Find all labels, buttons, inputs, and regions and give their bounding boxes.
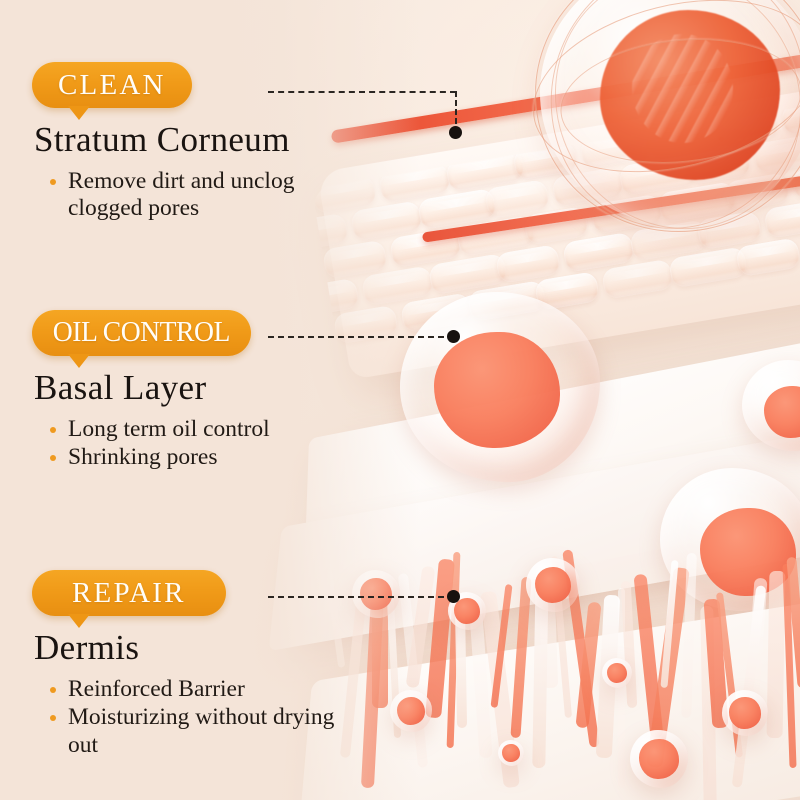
corneocyte-cell <box>445 150 525 192</box>
corneocyte-cell <box>378 162 451 203</box>
corneocyte-cell <box>724 172 790 212</box>
sphere-coral-core <box>600 10 780 180</box>
collagen-fiber <box>681 553 697 718</box>
layer-title-basal-layer: Basal Layer <box>34 370 270 407</box>
dermis-sphere <box>722 690 768 736</box>
dermis-sphere <box>630 730 688 788</box>
collagen-fiber <box>618 588 625 788</box>
dermis-sphere-core <box>535 567 572 604</box>
collagen-fiber <box>633 574 663 738</box>
corneocyte-cell <box>668 246 748 288</box>
corneocyte-cell <box>752 133 800 174</box>
collagen-fiber <box>386 580 401 738</box>
skin-cell-sphere <box>400 292 600 482</box>
corneocyte-cell <box>685 145 751 185</box>
collagen-fiber <box>551 556 572 718</box>
badge-tail-icon <box>68 354 90 368</box>
section-clean: CLEAN Stratum Corneum Remove dirt and un… <box>32 62 368 224</box>
badge-oil-control[interactable]: OIL CONTROL <box>32 310 251 356</box>
collagen-fiber <box>732 585 767 788</box>
skin-cell-sphere <box>660 468 800 611</box>
corneocyte-cell <box>629 219 709 261</box>
wireframe-ring <box>554 28 800 175</box>
wireframe-sphere <box>540 0 800 225</box>
badge-oil-control-label: OIL CONTROL <box>53 319 230 348</box>
collagen-fiber <box>562 549 600 747</box>
collagen-fiber <box>406 566 436 689</box>
corneocyte-cell <box>361 265 434 306</box>
badge-repair-label: REPAIR <box>72 579 186 608</box>
badge-clean[interactable]: CLEAN <box>32 62 192 108</box>
collagen-fiber <box>398 573 428 768</box>
corneocyte-cell <box>322 240 388 280</box>
collagen-fiber <box>372 587 388 708</box>
skin-cell-core <box>434 332 560 448</box>
badge-tail-icon <box>68 106 90 120</box>
skin-cell-core <box>700 508 796 596</box>
corneocyte-cell <box>312 278 360 318</box>
collagen-fiber <box>455 605 467 728</box>
collagen-fiber <box>532 570 548 768</box>
collagen-fiber <box>621 581 638 708</box>
skin-surface-line-secondary <box>422 163 800 242</box>
skin-cell-core <box>764 386 800 438</box>
collagen-fiber <box>700 606 717 800</box>
corneocyte-cell <box>657 181 737 223</box>
dermis-sphere <box>602 658 632 688</box>
collagen-fiber <box>745 578 767 709</box>
corneocyte-cell <box>696 210 762 250</box>
dermis-sphere-core <box>607 663 627 683</box>
corneocyte-cell <box>428 253 508 295</box>
corneocyte-cell <box>534 271 600 311</box>
corneocyte-cell <box>646 116 726 158</box>
layer-title-dermis: Dermis <box>34 630 368 667</box>
badge-clean-label: CLEAN <box>58 71 166 100</box>
bullet-list-oil-control: Long term oil control Shrinking pores <box>32 416 270 472</box>
collagen-fiber <box>782 564 796 768</box>
collagen-fiber <box>646 567 690 768</box>
collagen-fiber <box>596 595 621 759</box>
collagen-fiber <box>480 591 520 788</box>
corneocyte-cell <box>484 179 550 219</box>
corneocyte-cell <box>579 128 652 169</box>
badge-repair[interactable]: REPAIR <box>32 570 226 616</box>
collagen-fiber <box>786 557 800 688</box>
dermis-sphere <box>390 690 432 732</box>
wireframe-ring <box>511 0 800 267</box>
corneocyte-cell <box>780 95 800 136</box>
dermis-sphere-core <box>639 739 678 778</box>
dermis-sphere-core <box>729 697 760 728</box>
bullet-list-clean: Remove dirt and unclog clogged pores <box>32 168 368 223</box>
infographic-poster: CLEAN Stratum Corneum Remove dirt and un… <box>0 0 800 800</box>
corneocyte-cell <box>467 280 547 322</box>
collagen-fiber <box>468 598 492 759</box>
section-oil-control: OIL CONTROL Basal Layer Long term oil co… <box>32 310 270 473</box>
list-item: Remove dirt and unclog clogged pores <box>48 168 368 223</box>
stratum-corneum-slab <box>317 70 800 379</box>
bullet-list-repair: Reinforced Barrier Moisturizing without … <box>32 676 368 760</box>
collagen-fiber <box>510 577 531 738</box>
collagen-fiber <box>660 560 678 688</box>
corneocyte-cell <box>333 305 399 345</box>
collagen-fiber <box>575 602 601 729</box>
collagen-fiber <box>425 559 455 719</box>
list-item: Long term oil control <box>48 416 270 444</box>
basal-layer-plane <box>303 317 800 619</box>
layer-title-stratum-corneum: Stratum Corneum <box>34 122 368 159</box>
wireframe-ring <box>535 0 800 232</box>
wireframe-ring <box>510 0 800 273</box>
dermis-sphere <box>498 740 524 766</box>
section-repair: REPAIR Dermis Reinforced Barrier Moistur… <box>32 570 368 761</box>
dermis-sphere <box>526 558 580 612</box>
corneocyte-cell <box>456 215 536 257</box>
dermis-collagen-fibers <box>330 540 800 800</box>
corneocyte-cell <box>791 160 800 201</box>
corneocyte-cell <box>417 188 497 230</box>
corneocyte-cell <box>763 198 800 239</box>
corneocyte-cell <box>590 194 663 235</box>
collagen-fiber <box>767 571 786 738</box>
dermis-sphere-core <box>454 598 480 624</box>
corneocyte-cell <box>495 244 561 284</box>
badge-tail-icon <box>68 614 90 628</box>
collagen-fiber <box>716 592 743 758</box>
collagen-fiber <box>538 563 558 688</box>
corneocyte-cell <box>735 237 800 277</box>
corneocyte-cell <box>562 232 635 273</box>
corneocyte-cell <box>512 141 578 181</box>
corneocyte-cell <box>601 259 674 300</box>
dermis-sphere-core <box>502 744 520 762</box>
dermis-sphere-core <box>397 697 426 726</box>
collagen-fiber <box>447 552 461 748</box>
list-item: Reinforced Barrier <box>48 676 368 704</box>
dermis-base-plane <box>295 594 800 800</box>
corneocyte-cell <box>713 107 779 147</box>
corneocyte-cell <box>400 292 473 333</box>
corneocyte-cell <box>389 227 462 268</box>
corneocyte-cell <box>523 206 589 246</box>
list-item: Moisturizing without drying out <box>48 704 368 759</box>
skin-cell-sphere <box>742 360 800 451</box>
collagen-fiber <box>704 599 729 729</box>
stratum-corneum-cells <box>312 90 800 362</box>
list-item: Shrinking pores <box>48 444 270 472</box>
wireframe-ring <box>515 0 800 200</box>
corneocyte-cell <box>618 154 698 196</box>
corneocyte-cell <box>551 167 624 208</box>
collagen-fiber <box>490 584 512 708</box>
